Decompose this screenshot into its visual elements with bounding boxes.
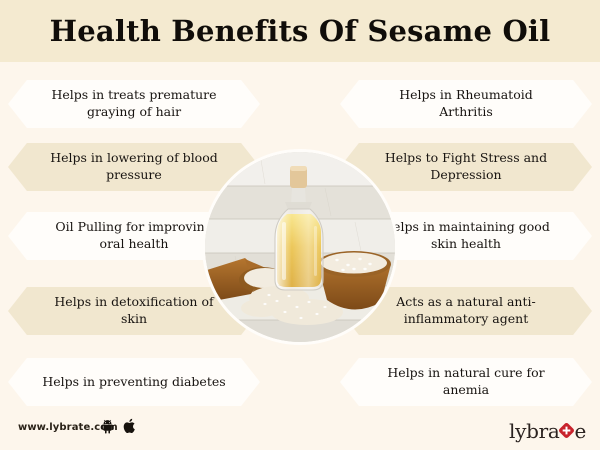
page-title: Health Benefits Of Sesame Oil xyxy=(50,14,551,48)
brand-prefix: lybra xyxy=(509,419,559,443)
brand-suffix: e xyxy=(574,419,586,443)
benefit-item-right-2: Helps to Fight Stress and Depression xyxy=(340,143,592,191)
apple-icon[interactable] xyxy=(123,418,137,434)
sesame-oil-photo xyxy=(205,152,395,342)
benefit-item-left-5: Helps in preventing diabetes xyxy=(8,358,260,406)
android-icon[interactable] xyxy=(100,419,115,434)
benefit-item-right-5: Helps in natural cure for anemia xyxy=(340,358,592,406)
infographic-root: Health Benefits Of Sesame Oil Helps in t… xyxy=(0,0,600,450)
benefit-item-left-1: Helps in treats premature graying of hai… xyxy=(8,80,260,128)
benefit-item-right-1: Helps in Rheumatoid Arthritis xyxy=(340,80,592,128)
title-band: Health Benefits Of Sesame Oil xyxy=(0,0,600,62)
medical-cross-diamond-icon xyxy=(558,420,575,444)
sesame-oil-illustration xyxy=(205,152,395,342)
store-badges xyxy=(100,418,137,434)
brand-logo[interactable]: lybra e xyxy=(509,419,586,443)
footer: www.lybrate.com xyxy=(0,410,600,450)
benefit-item-left-2: Helps in lowering of blood pressure xyxy=(8,143,260,191)
